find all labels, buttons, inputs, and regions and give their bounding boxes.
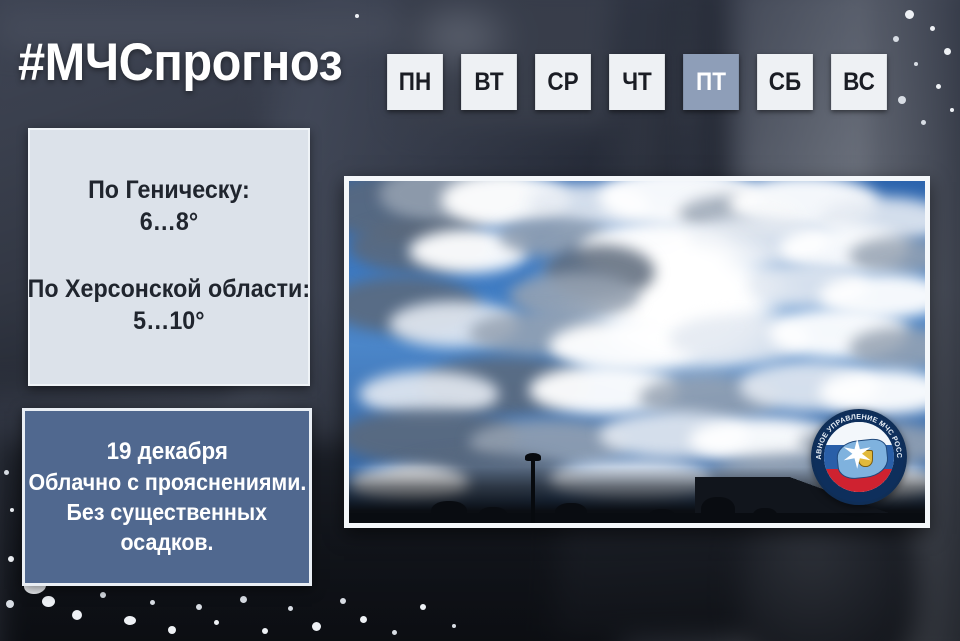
day-button-tue[interactable]: ВТ [461,54,517,110]
lamppost-silhouette [531,457,535,523]
day-button-mon[interactable]: ПН [387,54,443,110]
conditions-line-2: Без существенных [67,498,267,528]
page-title: #МЧСпрогноз [18,36,342,89]
day-label: ПТ [696,68,726,97]
day-button-sat[interactable]: СБ [757,54,813,110]
region-temperature-value: 5…10° [28,305,310,339]
emblem-inner-disc [824,422,894,492]
ground-line [349,513,925,523]
region-temperature-group: По Херсонской области: 5…10° [28,274,310,339]
photo-frame: ГЛАВНОЕ УПРАВЛЕНИЕ МЧС РОССИИ ПО ХЕРСОНС… [344,176,930,528]
day-label: СР [547,68,578,97]
mchs-emblem: ГЛАВНОЕ УПРАВЛЕНИЕ МЧС РОССИИ ПО ХЕРСОНС… [811,409,907,505]
forecast-date: 19 декабря [106,436,227,468]
day-selector[interactable]: ПН ВТ СР ЧТ ПТ СБ ВС [384,54,890,110]
day-button-sun[interactable]: ВС [831,54,887,110]
conditions-line-1: Облачно с прояснениями. [28,468,306,498]
forecast-graphic: #МЧСпрогноз ПН ВТ СР ЧТ ПТ СБ ВС По Гени… [0,0,960,641]
lamp-head-icon [525,453,541,461]
city-temperature-value: 6…8° [88,206,250,240]
region-label: По Херсонской области: [28,274,310,305]
day-label: ВС [843,68,875,97]
city-label: По Геническу: [88,175,250,206]
date-conditions-panel: 19 декабря Облачно с прояснениями. Без с… [22,408,312,586]
day-button-wed[interactable]: СР [535,54,591,110]
temperature-panel: По Геническу: 6…8° По Херсонской области… [28,128,310,386]
day-button-fri[interactable]: ПТ [683,54,739,110]
sky-photo: ГЛАВНОЕ УПРАВЛЕНИЕ МЧС РОССИИ ПО ХЕРСОНС… [349,181,925,523]
city-temperature-group: По Геническу: 6…8° [88,175,250,240]
day-label: ЧТ [622,68,652,97]
conditions-line-3: осадков. [121,528,214,558]
day-label: ПН [399,68,431,97]
day-label: СБ [769,68,801,97]
day-button-thu[interactable]: ЧТ [609,54,665,110]
day-label: ВТ [474,68,503,97]
